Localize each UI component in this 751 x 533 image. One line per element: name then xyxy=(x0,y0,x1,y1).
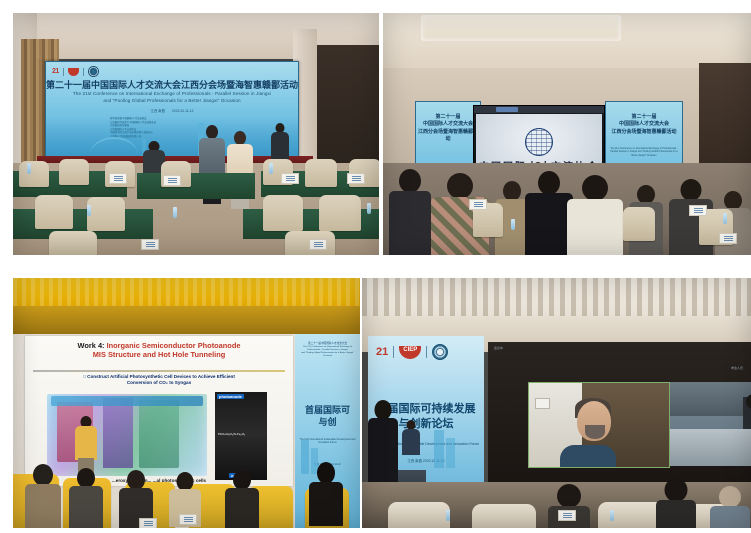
led-banner-left-title: 第二十一届 中国国际人才交流大会 江西分会场暨海智惠赣鄱活动 xyxy=(416,114,480,143)
audience-member xyxy=(389,169,431,255)
banner-logo-row: 21 xyxy=(52,66,99,77)
slide-title: Work 4: Inorganic Semiconductor Photoano… xyxy=(29,341,289,360)
ciep-logo-icon xyxy=(68,68,79,76)
audience-member xyxy=(525,171,573,255)
logo-21: 21 xyxy=(376,346,388,358)
remote-speaker-video-tile xyxy=(528,382,670,468)
banner-place: 江西 南昌 xyxy=(150,109,165,113)
banner-tower-graphic xyxy=(434,430,444,468)
banner-meta: 江西 南昌 2023.10.11-12 xyxy=(46,108,298,113)
audience-member xyxy=(25,464,61,526)
remote-speaker-torso xyxy=(560,445,616,467)
chair xyxy=(59,159,89,185)
chair xyxy=(305,159,337,187)
speaker-at-podium xyxy=(402,420,420,454)
audience-member xyxy=(548,484,590,528)
table-name-card xyxy=(689,205,707,216)
main-display-screen: 会议中 参会人员 xyxy=(488,342,751,488)
water-bottle xyxy=(367,203,371,214)
led-banner-right-title: 第二十一届 中国国际人才交流大会 江西分会场暨海智惠赣鄱活动 xyxy=(606,114,682,136)
chair xyxy=(87,197,125,231)
chair xyxy=(49,231,97,255)
association-emblem-icon xyxy=(88,66,99,77)
side-banner-title: 首届国际可 与创 xyxy=(295,404,360,428)
banner-title-en-line1: The 21st Conference on International Exc… xyxy=(46,91,298,96)
chair xyxy=(35,195,73,229)
logo-divider-2 xyxy=(426,346,427,358)
banner-skyline-graphic xyxy=(46,117,298,157)
water-bottle xyxy=(723,213,727,224)
slide-bullet-line1: Construct Artificial Photosynthetic Cell… xyxy=(87,374,235,379)
chair xyxy=(623,207,655,241)
audience-area xyxy=(13,462,360,528)
logo-divider-2 xyxy=(83,68,84,76)
banner-title-cn: 第二十一届中国国际人才交流大会江西分会场暨海智惠赣鄱活动 xyxy=(46,78,298,91)
audience-camera-tile xyxy=(670,382,751,466)
chair xyxy=(19,161,49,187)
logo-divider xyxy=(63,68,64,76)
slide-bullet: □ Construct Artificial Photosynthetic Ce… xyxy=(35,374,283,386)
water-bottle xyxy=(610,510,614,521)
slide-material-label: PbOₓ/Al₂O₃/S‑Fe₂O₃ xyxy=(218,432,245,436)
photo-collage: 21 第二十一届中国国际人才交流大会江西分会场暨海智惠赣鄱活动 The 21st… xyxy=(0,0,751,533)
audience-member xyxy=(710,486,750,528)
caiep-globe-icon xyxy=(525,128,553,156)
ceiling-moulding xyxy=(362,278,751,318)
ceiling-light-panel xyxy=(421,15,621,41)
sofa-seat xyxy=(388,502,450,528)
standing-attendee-foreground xyxy=(368,400,398,490)
presentation-window-bar xyxy=(474,106,604,113)
audience-member xyxy=(69,468,103,526)
slide-title-line2: MIS Structure and Hot Hole Tunneling xyxy=(93,350,225,359)
led-banner-right-en: The 21st Conference on International Exc… xyxy=(610,148,678,158)
audience-member xyxy=(309,462,343,526)
sofa-seat xyxy=(472,504,536,528)
logo-divider xyxy=(393,346,394,358)
led-stage-banner: 21 第二十一届中国国际人才交流大会江西分会场暨海智惠赣鄱活动 The 21st… xyxy=(45,61,299,158)
table-name-card xyxy=(309,239,327,250)
association-emblem-icon xyxy=(432,344,448,360)
slide-label-photoanode: photoanode xyxy=(217,394,244,399)
table-name-card xyxy=(163,175,181,186)
water-bottle xyxy=(27,163,31,174)
banner-bridge-graphic xyxy=(90,137,138,155)
remote-speaker-beard xyxy=(585,425,605,439)
photo-bottom-left: Work 4: Inorganic Semiconductor Photoano… xyxy=(13,278,360,528)
screen-status-right: 参会人员 xyxy=(731,366,743,370)
ciep-logo-icon: CIEP xyxy=(399,346,421,359)
slide-bullet-line2: Conversion of CO₂ to Syngas xyxy=(127,380,191,385)
presentation-tab xyxy=(496,107,518,112)
table-name-card xyxy=(558,510,576,521)
bullet-marker-icon: □ xyxy=(83,374,86,379)
screen-status-left: 会议中 xyxy=(494,346,503,350)
table-name-card xyxy=(281,173,299,184)
chair xyxy=(319,195,361,231)
table-name-card xyxy=(179,514,197,525)
table-name-card xyxy=(469,199,487,210)
audience-member xyxy=(225,470,259,526)
hall-ceiling xyxy=(383,13,751,75)
photo-top-left: 21 第二十一届中国国际人才交流大会江西分会场暨海智惠赣鄱活动 The 21st… xyxy=(13,13,379,255)
banner-logo-row: 21 CIEP xyxy=(376,344,448,360)
banner-place: 江西 南昌 xyxy=(407,459,422,463)
table-name-card xyxy=(719,233,737,244)
video-wall-panel xyxy=(535,398,550,409)
chair xyxy=(263,195,303,231)
logo-21: 21 xyxy=(52,68,59,75)
audience-member xyxy=(656,478,696,528)
slide-work-label: Work 4: xyxy=(78,341,105,350)
slide-title-line1: Inorganic Semiconductor Photoanode xyxy=(107,341,241,350)
seated-audience-rows xyxy=(670,429,751,466)
banner-date: 2023.10.11-12 xyxy=(172,109,194,113)
table-name-card xyxy=(109,173,127,184)
slide-divider xyxy=(33,370,285,372)
sofa-seat xyxy=(598,502,664,528)
water-bottle xyxy=(87,205,91,216)
photo-top-right: 第二十一届 中国国际人才交流大会 江西分会场暨海智惠赣鄱活动 中国国际人才交流协… xyxy=(383,13,751,255)
water-bottle xyxy=(173,207,177,218)
table-name-card xyxy=(347,173,365,184)
water-bottle xyxy=(269,163,273,174)
table-name-card xyxy=(139,518,157,528)
water-bottle xyxy=(446,510,450,521)
banner-tower-graphic xyxy=(446,438,455,468)
side-banner-top-text: 第二十一届中国国际人才交流大会 The 21st Conference on I… xyxy=(297,342,358,359)
audience-member xyxy=(567,175,623,255)
water-bottle xyxy=(511,219,515,230)
gold-ceiling-trim xyxy=(13,278,360,308)
conference-table xyxy=(137,173,255,199)
banner-title-en-line2: and "Pooling Global Professionals for a … xyxy=(46,98,298,103)
table-name-card xyxy=(141,239,159,250)
photo-bottom-right: 会议中 参会人员 xyxy=(362,278,751,528)
